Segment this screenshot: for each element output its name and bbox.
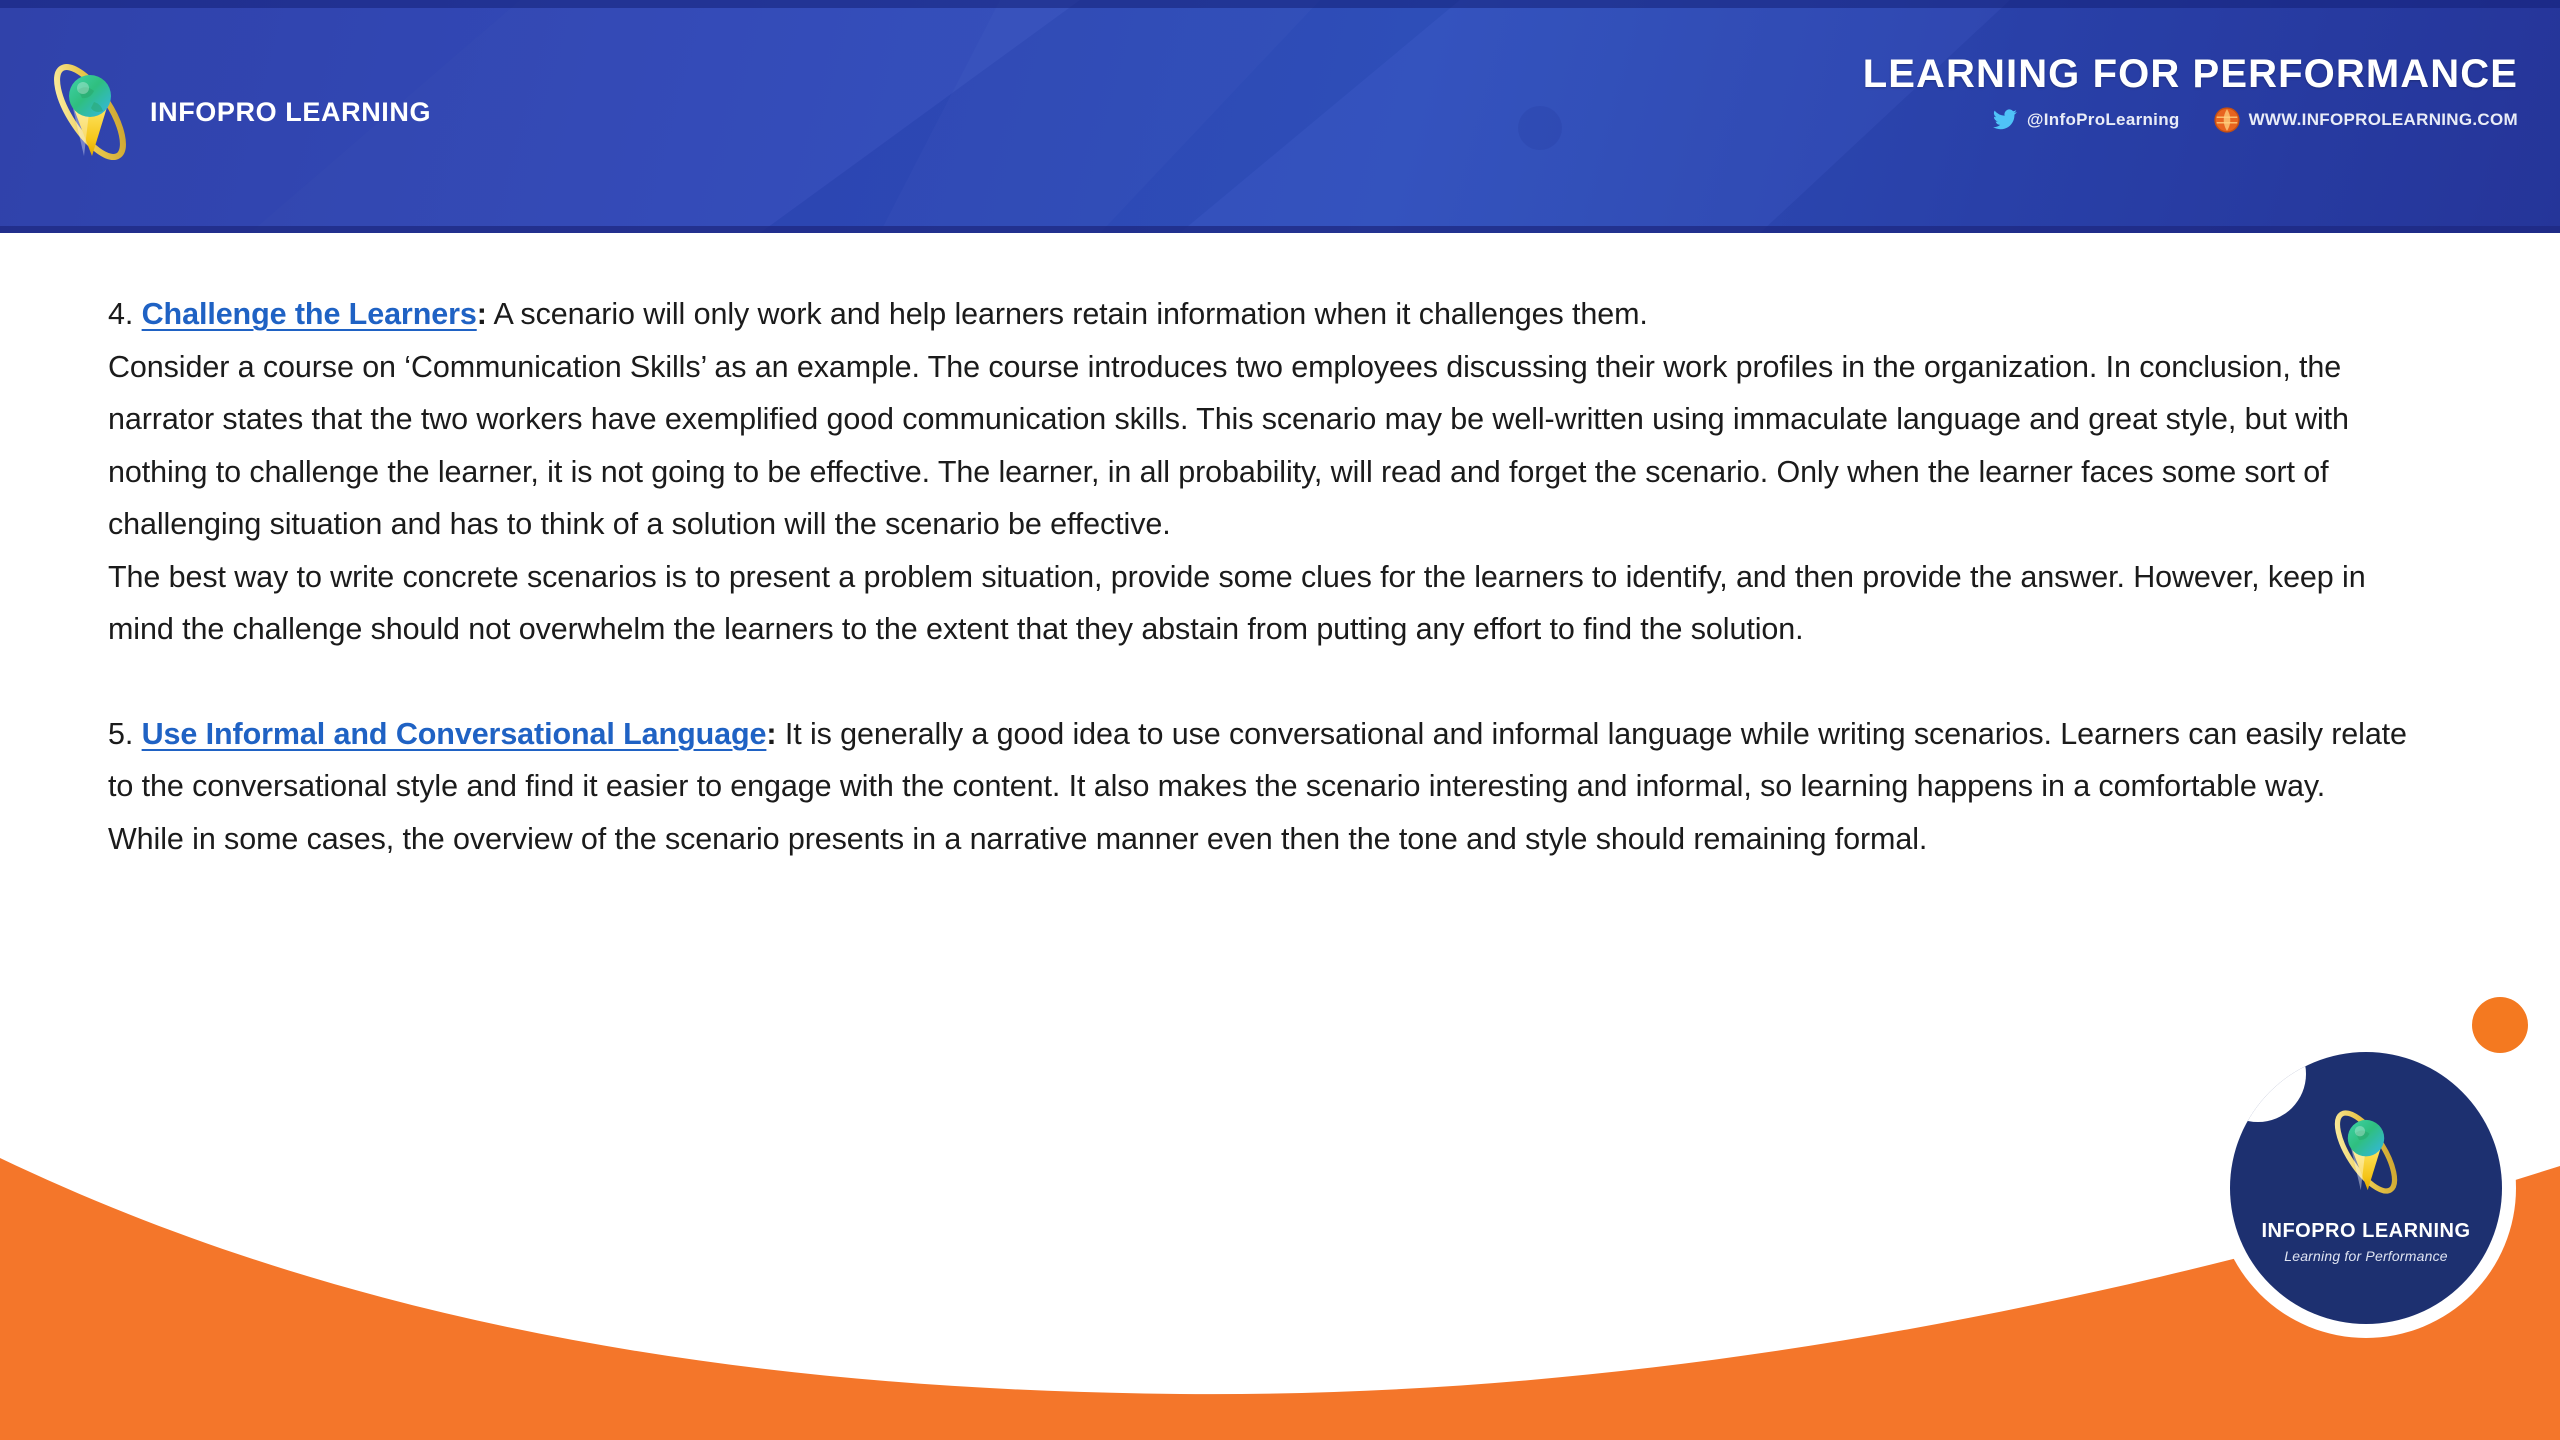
section-4-number: 4. bbox=[108, 297, 142, 331]
brand-name-label: INFOPRO LEARNING bbox=[150, 97, 431, 128]
brand-lockup: INFOPRO LEARNING bbox=[48, 52, 431, 172]
orange-wave-decoration bbox=[0, 970, 2560, 1440]
badge-tagline: Learning for Performance bbox=[2230, 1248, 2502, 1264]
header-top-accent bbox=[0, 0, 2560, 8]
section-4-colon: : bbox=[477, 297, 487, 331]
badge-brand-name: INFOPRO LEARNING bbox=[2230, 1220, 2502, 1243]
badge-rocket-globe-icon bbox=[2327, 1100, 2405, 1204]
twitter-handle-item[interactable]: @InfoProLearning bbox=[1992, 107, 2180, 133]
section-4-heading-link[interactable]: Challenge the Learners bbox=[142, 297, 477, 331]
section-5-number: 5. bbox=[108, 717, 142, 751]
badge-notch bbox=[2230, 1052, 2306, 1122]
footer-logo-badge: INFOPRO LEARNING Learning for Performanc… bbox=[2216, 1038, 2516, 1338]
section-4-body-1: Consider a course on ‘Communication Skil… bbox=[108, 341, 2408, 551]
website-item[interactable]: WWW.INFOPROLEARNING.COM bbox=[2214, 107, 2518, 133]
twitter-handle-label: @InfoProLearning bbox=[2027, 110, 2180, 130]
paragraph-spacer bbox=[108, 656, 2408, 708]
globe-icon bbox=[2214, 107, 2240, 133]
twitter-bird-icon bbox=[1992, 107, 2018, 133]
section-5-colon: : bbox=[766, 717, 776, 751]
badge-navy-disc: INFOPRO LEARNING Learning for Performanc… bbox=[2230, 1052, 2502, 1324]
header-contact-row: @InfoProLearning WWW.INFOPROLEARNING.COM bbox=[1992, 107, 2518, 133]
header-right-block: LEARNING FOR PERFORMANCE @InfoProLearnin… bbox=[1863, 52, 2518, 133]
header-bottom-accent bbox=[0, 226, 2560, 233]
section-5-heading-link[interactable]: Use Informal and Conversational Language bbox=[142, 717, 767, 751]
slide-canvas: INFOPRO LEARNING LEARNING FOR PERFORMANC… bbox=[0, 0, 2560, 1440]
section-4-paragraph: 4. Challenge the Learners: A scenario wi… bbox=[108, 288, 2408, 341]
section-4-body-2: The best way to write concrete scenarios… bbox=[108, 551, 2408, 656]
slide-header: INFOPRO LEARNING LEARNING FOR PERFORMANC… bbox=[0, 0, 2560, 233]
section-4-intro-text: A scenario will only work and help learn… bbox=[487, 297, 1648, 331]
slide-body: 4. Challenge the Learners: A scenario wi… bbox=[108, 288, 2408, 865]
infopro-rocket-globe-logo-icon bbox=[48, 52, 132, 172]
section-5-paragraph: 5. Use Informal and Conversational Langu… bbox=[108, 708, 2408, 866]
website-label: WWW.INFOPROLEARNING.COM bbox=[2249, 110, 2518, 130]
header-tagline: LEARNING FOR PERFORMANCE bbox=[1863, 52, 2518, 97]
